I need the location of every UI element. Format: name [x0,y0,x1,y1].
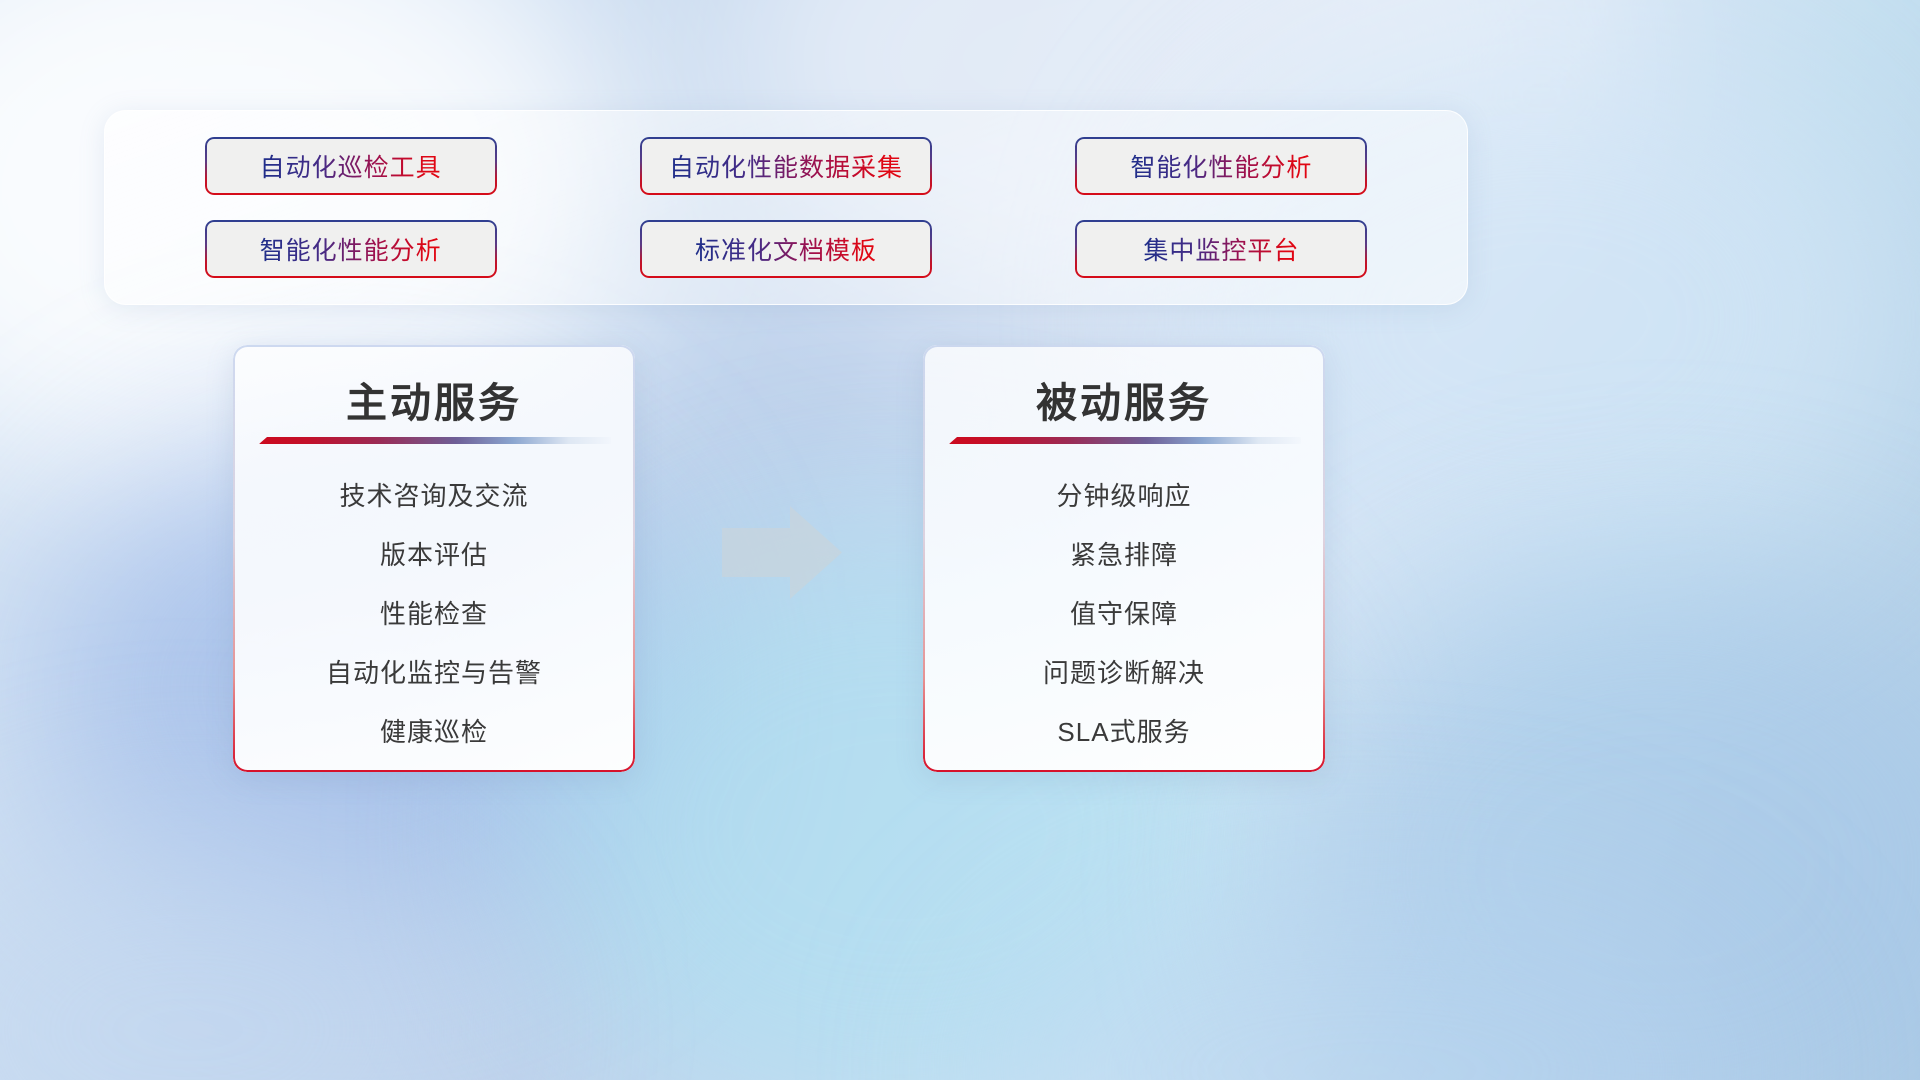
capability-chip-intelligent-performance-analysis-bottom[interactable]: 智能化性能分析 [205,220,497,278]
capability-chip-label: 标准化文档模板 [695,231,877,267]
list-item: 性能检查 [380,585,488,644]
arrow-right-icon [716,500,848,605]
capability-chip-label: 智能化性能分析 [1130,148,1312,184]
capability-chip-standardized-doc-template[interactable]: 标准化文档模板 [640,220,932,278]
service-card-proactive: 主动服务 技术咨询及交流 版本评估 性能检查 自动化监控与告警 健康巡检 [233,345,635,772]
list-item: 分钟级响应 [1056,467,1191,526]
capability-chip-automated-inspection-tool[interactable]: 自动化巡检工具 [205,137,497,195]
card-divider [949,437,1301,444]
card-title: 被动服务 [923,369,1325,429]
capability-chip-label: 集中监控平台 [1143,231,1299,267]
list-item: 自动化监控与告警 [326,644,542,703]
capability-chip-label: 自动化巡检工具 [260,148,442,184]
list-item: SLA式服务 [1057,703,1190,762]
service-card-reactive: 被动服务 分钟级响应 紧急排障 值守保障 问题诊断解决 SLA式服务 [923,345,1325,772]
list-item: 健康巡检 [380,703,488,762]
list-item: 版本评估 [380,526,488,585]
capability-panel: 自动化巡检工具 自动化性能数据采集 智能化性能分析 智能化性能分析 标准化文档模… [104,110,1468,305]
capability-chip-automated-performance-data-collection[interactable]: 自动化性能数据采集 [640,137,932,195]
list-item: 紧急排障 [1070,526,1178,585]
capability-chip-label: 自动化性能数据采集 [669,148,903,184]
capability-chip-intelligent-performance-analysis-top[interactable]: 智能化性能分析 [1075,137,1367,195]
card-item-list: 技术咨询及交流 版本评估 性能检查 自动化监控与告警 健康巡检 [233,467,635,762]
list-item: 问题诊断解决 [1043,644,1205,703]
capability-chip-grid: 自动化巡检工具 自动化性能数据采集 智能化性能分析 智能化性能分析 标准化文档模… [105,111,1467,304]
card-title: 主动服务 [233,369,635,429]
card-divider [259,437,611,444]
card-item-list: 分钟级响应 紧急排障 值守保障 问题诊断解决 SLA式服务 [923,467,1325,762]
capability-chip-centralized-monitoring-platform[interactable]: 集中监控平台 [1075,220,1367,278]
list-item: 值守保障 [1070,585,1178,644]
list-item: 技术咨询及交流 [339,467,528,526]
capability-chip-label: 智能化性能分析 [260,231,442,267]
